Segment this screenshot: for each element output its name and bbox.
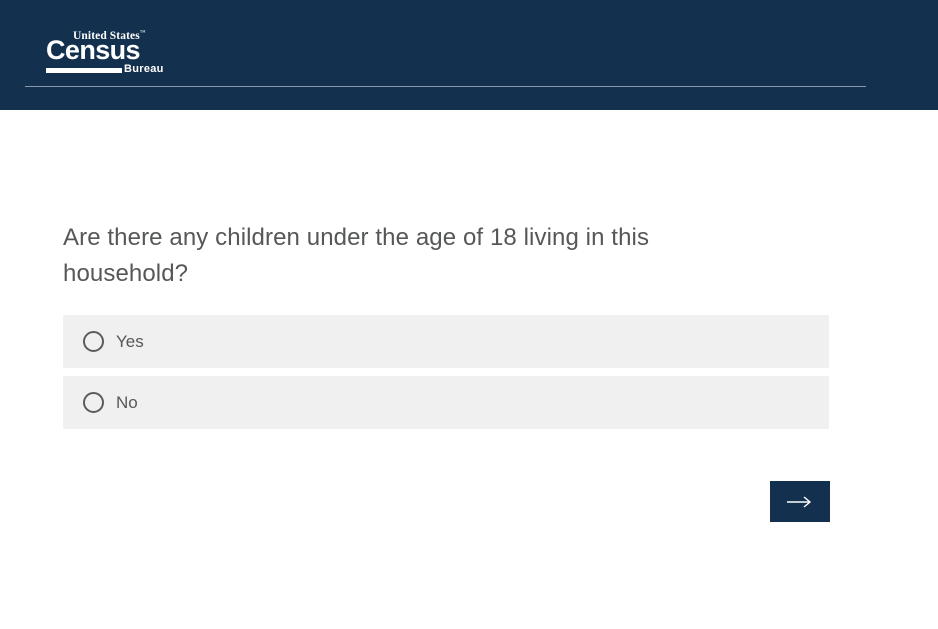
logo-line-census: Census <box>46 35 140 65</box>
header-divider-rule <box>25 86 866 87</box>
option-label-no: No <box>116 393 138 413</box>
radio-button-no[interactable] <box>83 392 104 413</box>
trademark-icon: ™ <box>140 30 146 36</box>
next-button[interactable] <box>770 481 830 522</box>
option-row-yes[interactable]: Yes <box>63 315 829 368</box>
radio-button-yes[interactable] <box>83 331 104 352</box>
census-bureau-logo[interactable]: United States™ Census Bureau <box>46 27 150 75</box>
option-label-yes: Yes <box>116 332 144 352</box>
question-text: Are there any children under the age of … <box>63 220 723 292</box>
logo-bar-divider <box>46 68 122 73</box>
site-header: United States™ Census Bureau <box>0 0 938 110</box>
option-row-no[interactable]: No <box>63 376 829 429</box>
answer-options-group: Yes No <box>63 315 829 429</box>
survey-content: Are there any children under the age of … <box>0 110 938 629</box>
arrow-right-icon <box>786 495 814 509</box>
logo-line-bureau: Bureau <box>124 63 164 75</box>
